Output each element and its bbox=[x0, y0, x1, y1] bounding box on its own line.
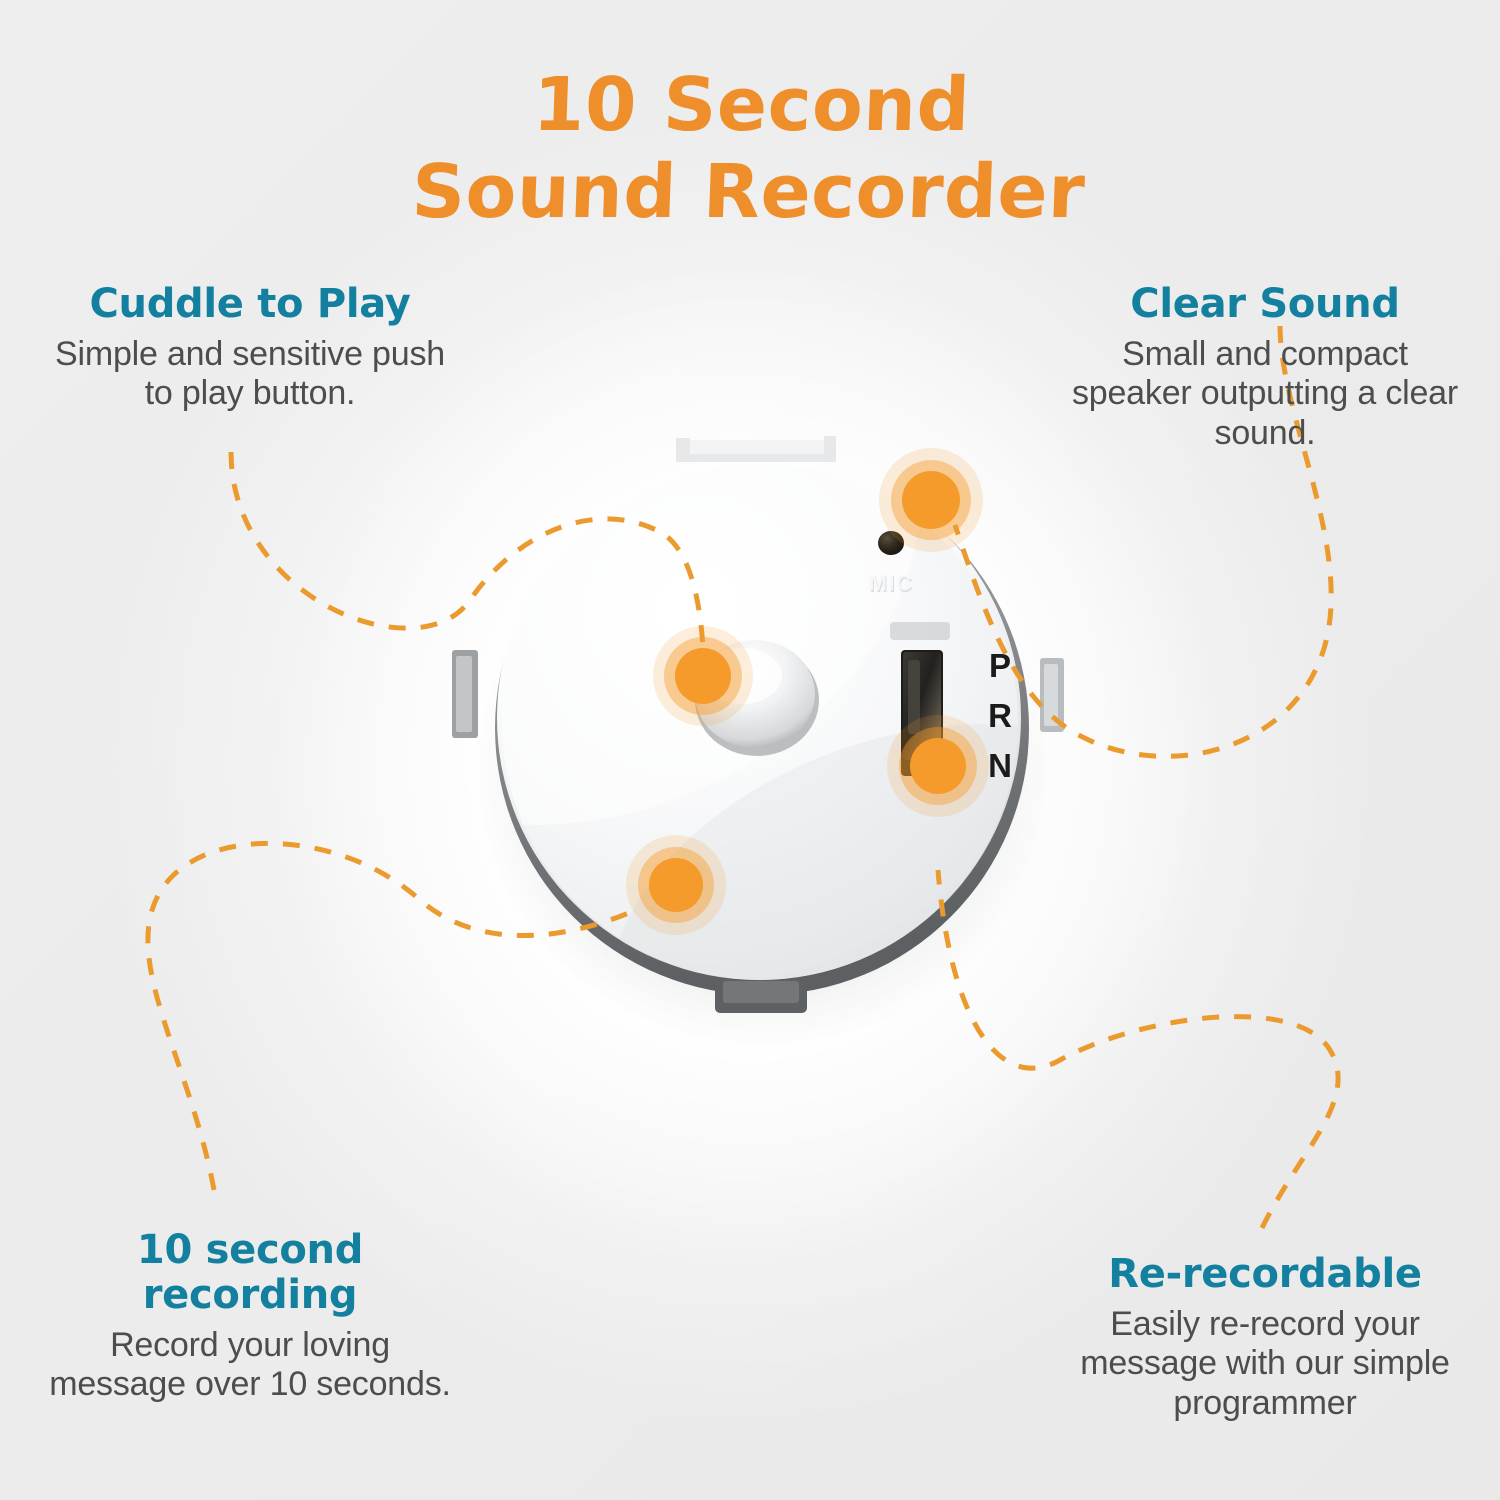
feature-body-re-recordable: Easily re-record your message with our s… bbox=[1055, 1305, 1475, 1423]
feature-body-clear-sound: Small and compact speaker outputting a c… bbox=[1060, 335, 1470, 453]
feature-cuddle-to-play: Cuddle to Play Simple and sensitive push… bbox=[40, 282, 460, 414]
feature-heading-cuddle: Cuddle to Play bbox=[40, 282, 460, 327]
hotspot-speaker[interactable] bbox=[879, 448, 983, 552]
feature-heading-ten-second: 10 second recording bbox=[40, 1228, 460, 1318]
hotspot-play-button[interactable] bbox=[653, 626, 753, 726]
hotspot-recording[interactable] bbox=[626, 835, 726, 935]
hotspot-switch[interactable] bbox=[887, 715, 989, 817]
feature-re-recordable: Re-recordable Easily re-record your mess… bbox=[1055, 1252, 1475, 1423]
feature-heading-re-recordable: Re-recordable bbox=[1055, 1252, 1475, 1297]
feature-ten-second-recording: 10 second recording Record your loving m… bbox=[40, 1228, 460, 1404]
feature-body-ten-second: Record your loving message over 10 secon… bbox=[40, 1326, 460, 1405]
feature-body-cuddle: Simple and sensitive push to play button… bbox=[40, 335, 460, 414]
feature-clear-sound: Clear Sound Small and compact speaker ou… bbox=[1060, 282, 1470, 453]
infographic-canvas: 10 Second Sound Recorder bbox=[0, 0, 1500, 1500]
feature-heading-clear-sound: Clear Sound bbox=[1060, 282, 1470, 327]
